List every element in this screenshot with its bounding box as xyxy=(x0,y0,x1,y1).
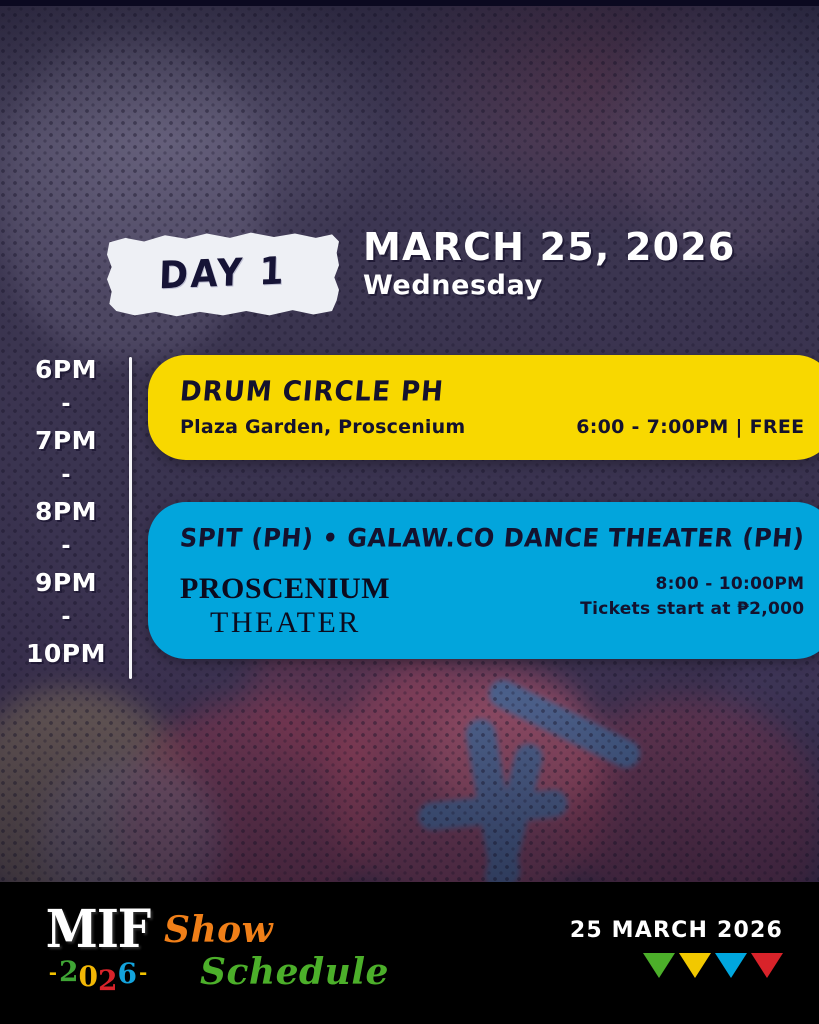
day-badge-label: DAY 1 xyxy=(159,250,287,298)
venue-logo-proscenium-theater: PROSCENIUM THEATER xyxy=(180,572,390,638)
event-price: Tickets start at ₱2,000 xyxy=(580,597,804,622)
time-dash-1: - xyxy=(61,394,70,416)
event-detail-row: Plaza Garden, Proscenium 6:00 - 7:00PM |… xyxy=(180,416,804,438)
time-dash-4: - xyxy=(61,607,70,629)
year-dash-left: - xyxy=(47,962,59,982)
time-mark-8pm: 8PM xyxy=(35,499,97,524)
event-card-drum-circle-ph[interactable]: DRUM CIRCLE PH Plaza Garden, Proscenium … xyxy=(148,355,819,460)
year-digit-2: 0 xyxy=(79,963,98,991)
venue-logo-line1: PROSCENIUM xyxy=(180,574,390,604)
event-title: DRUM CIRCLE PH xyxy=(179,376,806,408)
event-title: SPIT (PH) • GALAW.CO DANCE THEATER (PH) xyxy=(179,523,806,553)
title-line-show: Show xyxy=(164,912,389,948)
event-time-price: 8:00 - 10:00PM Tickets start at ₱2,000 xyxy=(580,572,804,621)
year-dash-right: - xyxy=(137,962,149,982)
time-dash-3: - xyxy=(61,536,70,558)
year-digit-1: 2 xyxy=(59,958,78,986)
footer-date-block: 25 MARCH 2026 xyxy=(570,918,783,978)
triangle-red-icon xyxy=(751,953,783,978)
time-mark-9pm: 9PM xyxy=(35,570,97,595)
triangle-yellow-icon xyxy=(679,953,711,978)
mif-wordmark: MIF xyxy=(38,903,158,956)
event-time-price: 6:00 - 7:00PM | FREE xyxy=(576,416,804,438)
event-cards: DRUM CIRCLE PH Plaza Garden, Proscenium … xyxy=(132,352,819,682)
footer-date: 25 MARCH 2026 xyxy=(570,918,783,943)
time-dash-2: - xyxy=(61,465,70,487)
triangle-green-icon xyxy=(643,953,675,978)
date-main: MARCH 25, 2026 xyxy=(363,228,736,268)
event-card-spit-galawco[interactable]: SPIT (PH) • GALAW.CO DANCE THEATER (PH) … xyxy=(148,502,819,659)
day-badge: DAY 1 xyxy=(107,230,339,318)
triangle-row xyxy=(570,953,783,978)
timeline-axis: 6PM - 7PM - 8PM - 9PM - 10PM xyxy=(0,352,132,682)
schedule-body: 6PM - 7PM - 8PM - 9PM - 10PM DRUM CIRCLE… xyxy=(0,352,819,682)
day-header: DAY 1 MARCH 25, 2026 Wednesday xyxy=(0,228,819,324)
year-digit-4: 6 xyxy=(117,960,136,988)
event-detail-row: PROSCENIUM THEATER 8:00 - 10:00PM Ticket… xyxy=(180,572,804,638)
time-mark-10pm: 10PM xyxy=(26,641,106,666)
venue-logo-line2: THEATER xyxy=(210,608,390,638)
year-digit-3: 2 xyxy=(98,967,117,995)
date-block: MARCH 25, 2026 Wednesday xyxy=(363,228,736,301)
footer-bar: MIF - 2 0 2 6 - Show Schedule 25 MARCH 2… xyxy=(0,882,819,1024)
mif-year: - 2 0 2 6 - xyxy=(38,958,158,986)
event-venue: Plaza Garden, Proscenium xyxy=(180,416,465,438)
triangle-blue-icon xyxy=(715,953,747,978)
event-time: 8:00 - 10:00PM xyxy=(580,572,804,597)
time-mark-6pm: 6PM xyxy=(35,357,97,382)
top-edge-strip xyxy=(0,0,819,6)
date-weekday: Wednesday xyxy=(363,270,736,301)
title-line-schedule: Schedule xyxy=(200,954,389,990)
show-schedule-title: Show Schedule xyxy=(164,912,389,990)
schedule-poster: DAY 1 MARCH 25, 2026 Wednesday 6PM - 7PM… xyxy=(0,0,819,1024)
time-mark-7pm: 7PM xyxy=(35,428,97,453)
mif-logo[interactable]: MIF - 2 0 2 6 - xyxy=(38,906,158,1002)
